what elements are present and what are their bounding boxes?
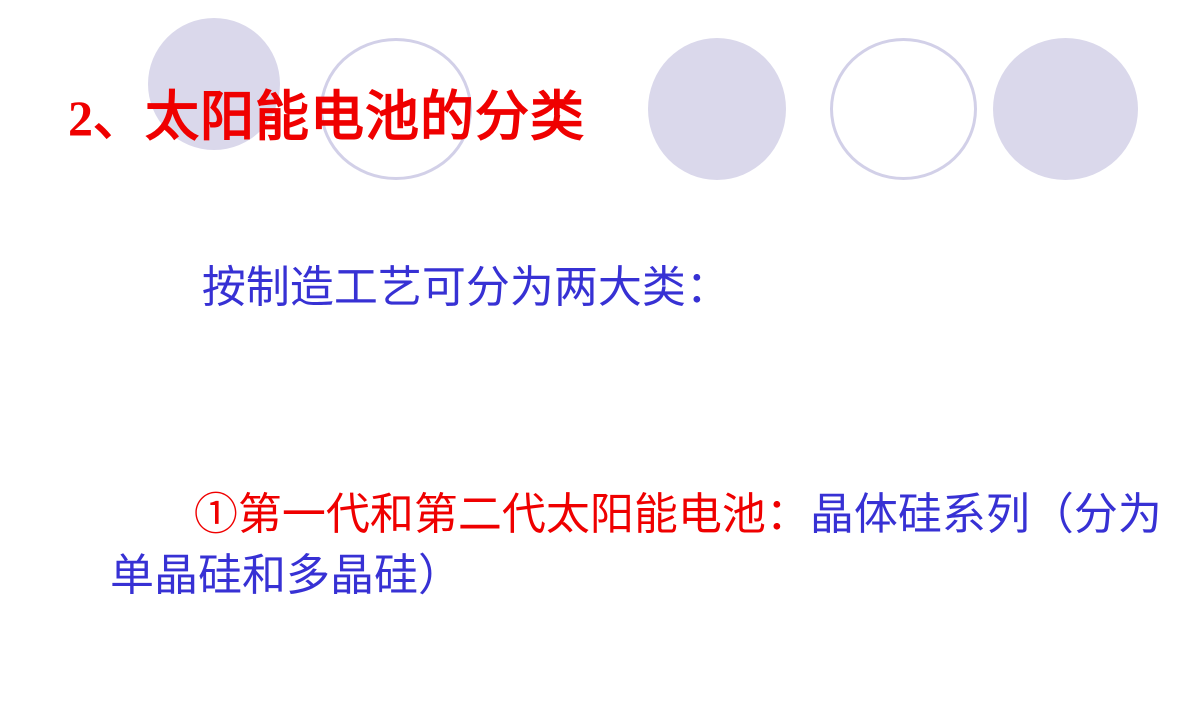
circle-4-outlined-icon xyxy=(830,38,977,180)
body-item-one: ①第一代和第二代太阳能电池：晶体硅系列（分为单晶硅和多晶硅） xyxy=(0,423,1200,667)
circle-5-filled-icon xyxy=(993,38,1138,180)
body-item-two: ②第三代薄膜型太阳能电池:非晶硅和铜铟镓硒（CIGS）系列 xyxy=(0,705,1200,726)
circle-3-filled-icon xyxy=(648,38,786,180)
page-title: 2、 太阳能电池的分类 xyxy=(68,72,585,151)
slide-body: 按制造工艺可分为两大类： ①第一代和第二代太阳能电池：晶体硅系列（分为单晶硅和多… xyxy=(0,196,1200,726)
page-title-number: 2、 xyxy=(68,78,143,150)
body-lead-text: 按制造工艺可分为两大类： xyxy=(202,262,730,313)
page-title-text: 太阳能电池的分类 xyxy=(145,72,585,151)
slide-canvas: 2、 太阳能电池的分类 按制造工艺可分为两大类： ①第一代和第二代太阳能电池：晶… xyxy=(0,0,1200,726)
body-lead-paragraph: 按制造工艺可分为两大类： xyxy=(0,196,1200,379)
item-one-red-segment: ①第一代和第二代太阳能电池： xyxy=(194,489,810,540)
